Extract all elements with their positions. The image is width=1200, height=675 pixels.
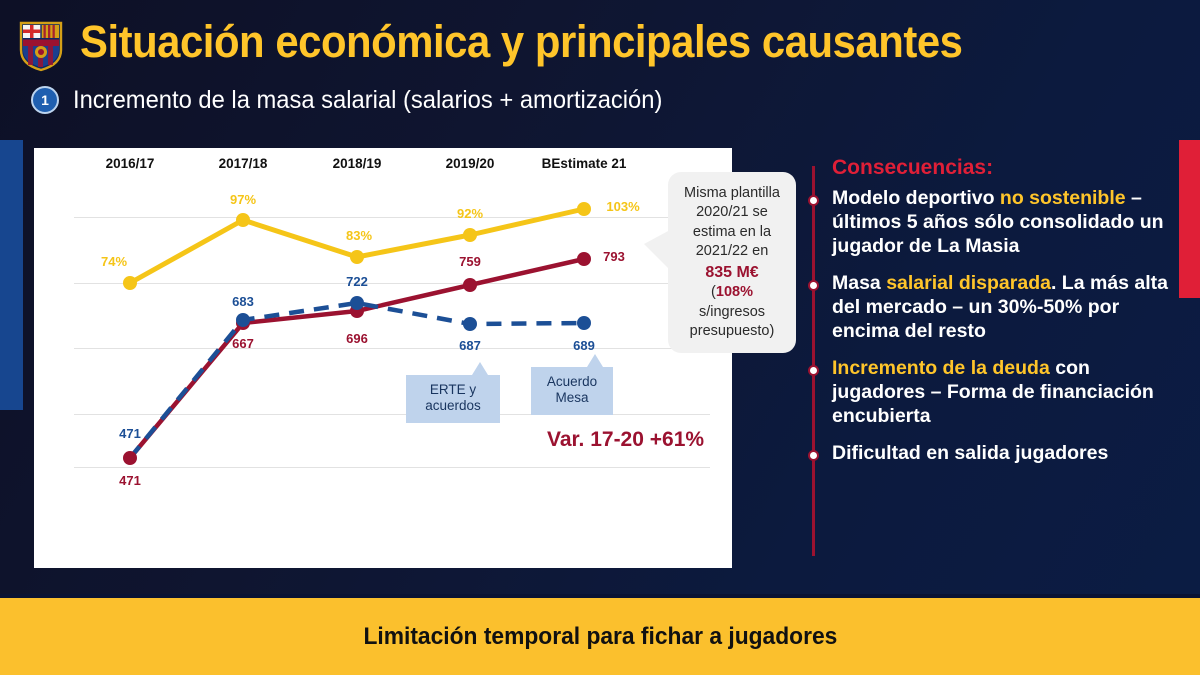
slide-root: Situación económica y principales causan… xyxy=(0,0,1200,675)
callout-acuerdo-line1: Acuerdo xyxy=(540,374,604,390)
consequence-pre: Modelo deportivo xyxy=(832,187,1000,209)
consequence-item: Masa salarial disparada. La más alta del… xyxy=(832,272,1176,344)
data-label-recurrent: 696 xyxy=(346,331,368,346)
estimate-callout: Misma plantilla 2020/21 se estima en la … xyxy=(668,172,796,353)
data-point-marker xyxy=(463,228,477,242)
data-label-recurrent: 759 xyxy=(459,254,481,269)
data-label-percent: 92% xyxy=(457,206,483,221)
data-point-marker xyxy=(350,296,364,310)
data-point-marker xyxy=(463,317,477,331)
data-label-reported: 471 xyxy=(119,426,141,441)
section-number-badge: 1 xyxy=(31,86,59,114)
data-label-recurrent: 793 xyxy=(603,249,625,264)
line-chart: 2016/17 2017/18 2018/19 2019/20 BEstimat… xyxy=(34,148,732,568)
consequence-item: Modelo deportivo no sostenible –últimos … xyxy=(832,187,1176,259)
consequences-title: Consecuencias: xyxy=(832,156,1176,180)
data-label-percent: 83% xyxy=(346,228,372,243)
data-label-percent: 103% xyxy=(606,199,639,214)
bullet-dot-icon xyxy=(808,195,819,206)
data-point-marker xyxy=(577,316,591,330)
data-point-marker xyxy=(350,250,364,264)
bottom-banner-text: Limitación temporal para fichar a jugado… xyxy=(363,623,837,651)
right-accent-bar xyxy=(1179,140,1200,298)
series-percent-line xyxy=(130,209,584,283)
callout-erte-line2: acuerdos xyxy=(415,398,491,414)
consequences-panel: Consecuencias: Modelo deportivo no soste… xyxy=(806,156,1176,479)
data-point-marker xyxy=(123,451,137,465)
data-label-percent: 97% xyxy=(230,192,256,207)
estimate-amount: 835 M€ xyxy=(677,262,787,283)
variation-annotation: Var. 17-20 +61% xyxy=(547,428,704,452)
callout-tail-icon xyxy=(644,230,670,270)
left-accent-bar xyxy=(0,140,23,410)
series-reported-line xyxy=(130,303,584,458)
data-label-reported: 683 xyxy=(232,294,254,309)
consequence-highlight: salarial disparada xyxy=(886,272,1051,294)
data-point-marker xyxy=(123,276,137,290)
data-label-percent: 74% xyxy=(101,254,127,269)
callout-erte-line1: ERTE y xyxy=(415,382,491,398)
section-subtitle: Incremento de la masa salarial (salarios… xyxy=(73,86,662,115)
data-point-marker xyxy=(236,213,250,227)
callout-erte: ERTE y acuerdos xyxy=(406,375,500,423)
data-point-marker xyxy=(236,313,250,327)
consequence-highlight: Incremento de la deuda xyxy=(832,357,1050,379)
page-title: Situación económica y principales causan… xyxy=(80,16,962,68)
callout-acuerdo: Acuerdo Mesa xyxy=(531,367,613,415)
data-label-recurrent: 667 xyxy=(232,336,254,351)
data-label-reported: 687 xyxy=(459,338,481,353)
consequence-item: Dificultad en salida jugadores xyxy=(832,442,1176,466)
bullet-dot-icon xyxy=(808,365,819,376)
callout-acuerdo-line2: Mesa xyxy=(540,390,604,406)
consequences-rail xyxy=(812,166,815,556)
estimate-tail-text: s/ingresos presupuesto) xyxy=(677,303,787,342)
estimate-callout-text: Misma plantilla 2020/21 se estima en la … xyxy=(684,185,780,259)
fc-barcelona-crest-icon xyxy=(18,20,64,72)
bottom-banner: Limitación temporal para fichar a jugado… xyxy=(0,598,1200,675)
consequence-pre: Dificultad en salida jugadores xyxy=(832,442,1108,464)
data-label-reported: 722 xyxy=(346,274,368,289)
bullet-dot-icon xyxy=(808,450,819,461)
bullet-dot-icon xyxy=(808,280,819,291)
data-point-marker xyxy=(577,252,591,266)
consequence-highlight: no sostenible xyxy=(1000,187,1126,209)
data-label-reported: 689 xyxy=(573,338,595,353)
data-point-marker xyxy=(577,202,591,216)
data-point-marker xyxy=(463,278,477,292)
chart-card: 2016/17 2017/18 2018/19 2019/20 BEstimat… xyxy=(34,148,732,568)
data-label-recurrent: 471 xyxy=(119,473,141,488)
consequence-pre: Masa xyxy=(832,272,886,294)
consequence-item: Incremento de la deuda con jugadores – F… xyxy=(832,357,1176,429)
estimate-percent: 108% xyxy=(716,284,753,300)
